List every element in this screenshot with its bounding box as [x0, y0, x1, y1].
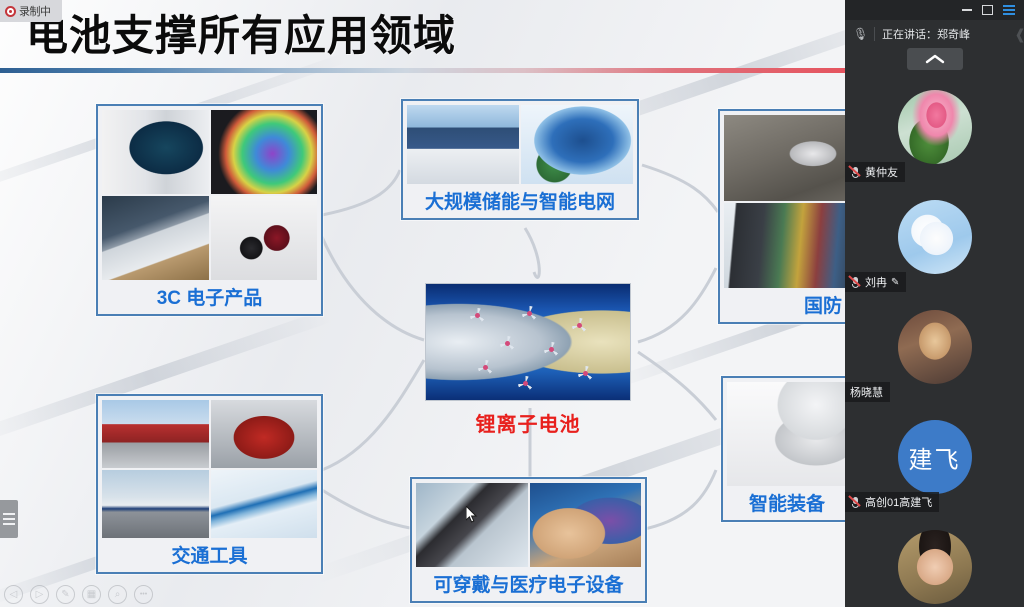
- card-consumer-electronics[interactable]: 3C 电子产品: [96, 104, 323, 316]
- participant-name: 杨晓慧: [850, 384, 883, 400]
- participant-tile[interactable]: 建飞 高创01高建飞: [845, 402, 1024, 512]
- minimize-button[interactable]: [962, 9, 972, 11]
- more-options-button[interactable]: •••: [134, 585, 153, 604]
- avatar: [898, 530, 972, 604]
- card-caption: 国防: [720, 289, 845, 322]
- participant-name: 高创01高建飞: [865, 494, 932, 510]
- page-title: 电池支撑所有应用领域: [26, 12, 456, 60]
- card-image-grid: [98, 106, 321, 281]
- participant-name: 黄仲友: [865, 164, 898, 180]
- recording-label: 录制中: [19, 3, 51, 19]
- avatar: [898, 90, 972, 164]
- center-caption: 锂离子电池: [476, 408, 581, 437]
- card-image-grid: [412, 479, 645, 568]
- mic-muted-icon: [850, 276, 861, 289]
- divider: [874, 27, 875, 41]
- mouse-cursor: [466, 506, 478, 524]
- card-caption: 智能装备: [723, 487, 845, 520]
- participant-name-chip: 刘冉 ✎: [845, 272, 906, 292]
- presentation-slide: 录制中 电池支撑所有应用领域 3C 电子产品 大规模储能与智能电网 国防: [0, 0, 845, 607]
- high-speed-train-photo: [102, 470, 209, 538]
- scroll-up-button[interactable]: [907, 48, 963, 70]
- card-image-grid: [98, 396, 321, 539]
- chevron-left-icon[interactable]: ❰: [1014, 26, 1024, 43]
- electric-bus-photo: [102, 400, 209, 468]
- mic-muted-icon: [850, 166, 861, 179]
- avatar: [898, 200, 972, 274]
- participant-tile[interactable]: 刘冉 ✎: [845, 182, 1024, 292]
- card-image-grid: [720, 111, 845, 289]
- mic-muted-icon: [850, 496, 861, 509]
- dslr-camera-photo: [211, 110, 318, 194]
- record-dot-icon: [5, 6, 16, 17]
- participant-name-chip: 黄仲友: [845, 162, 905, 182]
- card-wearable-medical[interactable]: 可穿戴与医疗电子设备: [410, 477, 647, 603]
- participant-name-chip: 高创01高建飞: [845, 492, 939, 512]
- smart-skin-sensor-illustration: [530, 483, 642, 567]
- participant-name: 刘冉: [865, 274, 887, 290]
- card-national-defense[interactable]: 国防: [718, 109, 845, 324]
- center-battery-graphic: 锂离子电池: [425, 283, 631, 437]
- active-speaker-label: 正在讲话：郑奇峰: [882, 26, 970, 42]
- maximize-button[interactable]: [982, 5, 993, 15]
- chevron-up-icon: [925, 54, 945, 64]
- next-slide-button[interactable]: ▷: [30, 585, 49, 604]
- card-image-grid: [403, 101, 637, 185]
- card-transportation[interactable]: 交通工具: [96, 394, 323, 574]
- smart-grid-diagram: [521, 105, 633, 184]
- laptop-photo: [102, 196, 209, 280]
- pen-icon[interactable]: ✎: [891, 277, 899, 288]
- previous-slide-button[interactable]: ◁: [4, 585, 23, 604]
- smartphone-photo: [102, 110, 209, 194]
- card-caption: 大规模储能与智能电网: [403, 185, 637, 218]
- lunar-rover-photo: [724, 115, 845, 201]
- participant-name-chip: 杨晓慧: [845, 382, 890, 402]
- card-energy-storage-grid[interactable]: 大规模储能与智能电网: [401, 99, 639, 220]
- presentation-toolbar[interactable]: ◁ ▷ ✎ ▦ ⌕ •••: [4, 585, 153, 604]
- active-speaker-bar: 🎙 正在讲话：郑奇峰 ❰: [845, 20, 1024, 48]
- submarine-photo: [724, 203, 845, 289]
- participant-tile[interactable]: [845, 512, 1024, 607]
- avatar: [898, 310, 972, 384]
- electric-car-photo: [211, 400, 318, 468]
- layout-list-button[interactable]: [1003, 5, 1015, 15]
- video-panel-titlebar: [845, 0, 1024, 20]
- lithium-battery-illustration: [425, 283, 631, 401]
- card-image-grid: [723, 378, 845, 487]
- participant-tile[interactable]: 杨晓慧: [845, 292, 1024, 402]
- card-smart-equipment[interactable]: 智能装备: [721, 376, 845, 522]
- title-underline-rule: [0, 68, 845, 73]
- earphones-photo: [211, 196, 318, 280]
- humanoid-robot-photo: [727, 382, 845, 486]
- participant-tile[interactable]: 黄仲友: [845, 72, 1024, 182]
- card-caption: 3C 电子产品: [98, 281, 321, 314]
- card-caption: 交通工具: [98, 539, 321, 572]
- solar-farm-photo: [407, 105, 519, 184]
- notes-panel-tab[interactable]: [0, 500, 18, 538]
- recording-indicator: 录制中: [0, 0, 62, 22]
- airliner-photo: [211, 470, 318, 538]
- microphone-icon: 🎙: [853, 27, 867, 41]
- video-conference-panel: 🎙 正在讲话：郑奇峰 ❰ 黄仲友 刘冉 ✎: [845, 0, 1024, 607]
- zoom-button[interactable]: ⌕: [108, 585, 127, 604]
- ski-wearable-photo: [416, 483, 528, 567]
- slide-grid-button[interactable]: ▦: [82, 585, 101, 604]
- avatar: 建飞: [898, 420, 972, 494]
- card-caption: 可穿戴与医疗电子设备: [412, 568, 645, 601]
- pen-tool-button[interactable]: ✎: [56, 585, 75, 604]
